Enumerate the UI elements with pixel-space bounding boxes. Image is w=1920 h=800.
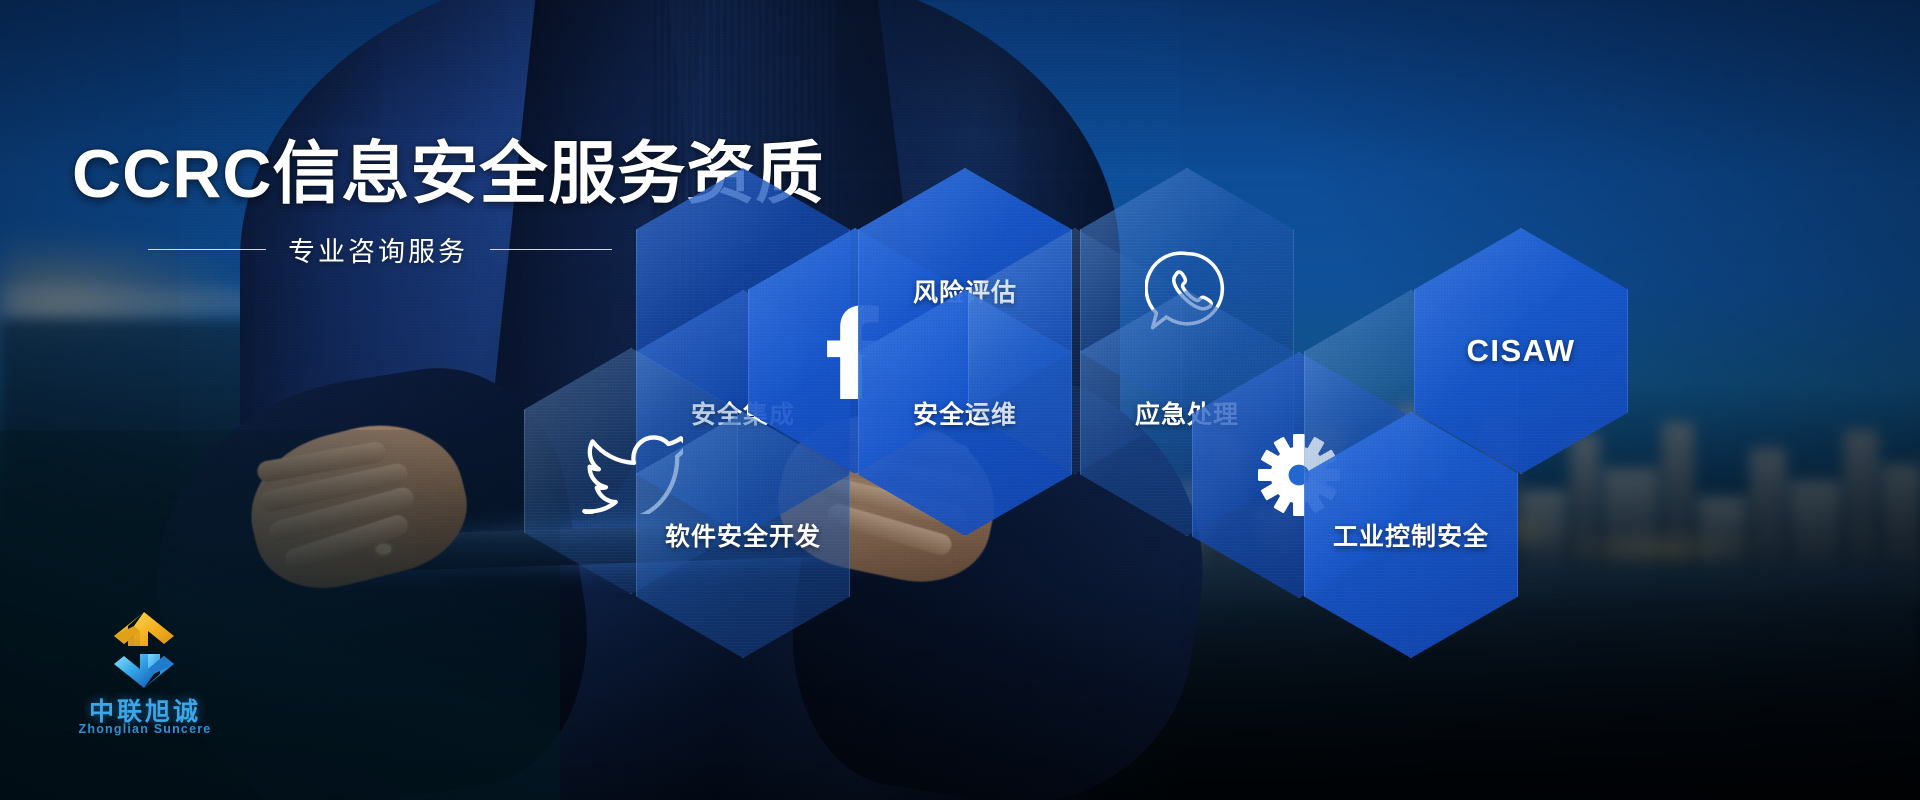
hex-label: 工业控制安全 <box>1333 517 1489 553</box>
logo-mark-icon <box>88 608 200 692</box>
logo-name-en: Zhonglian Suncere <box>60 722 230 736</box>
hex-label: 软件安全开发 <box>665 517 821 553</box>
hexagon-cluster: 安全集成软件安全开发风险评估安全运维应急处理工业控制安全CISAW <box>0 0 1920 800</box>
hex-label: CISAW <box>1466 333 1575 369</box>
ccrc-banner: CCRC信息安全服务资质 专业咨询服务 安全集成软件安全开发风险评估安全运维应急… <box>0 0 1920 800</box>
company-logo[interactable]: 中联旭诚 Zhonglian Suncere <box>60 608 230 740</box>
